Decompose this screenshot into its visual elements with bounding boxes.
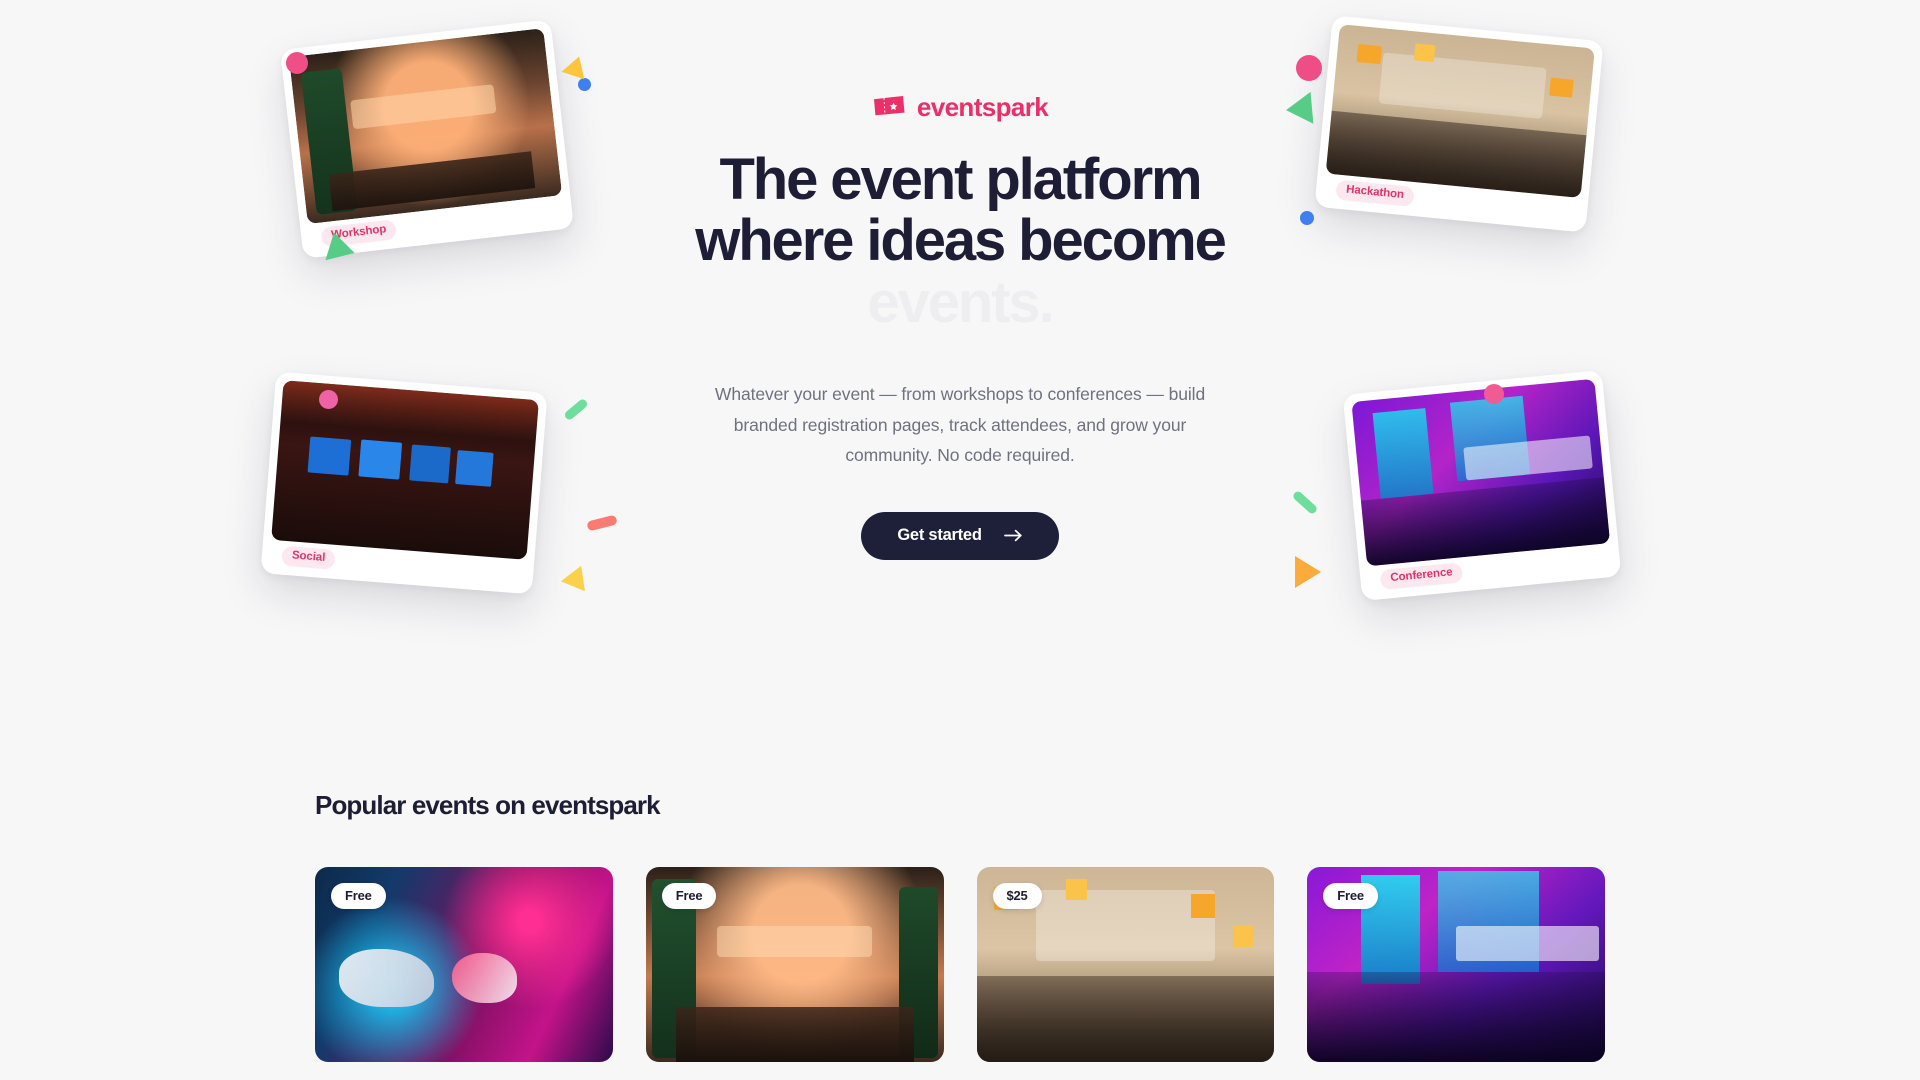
price-badge: Free (662, 883, 717, 909)
price-badge: Free (331, 883, 386, 909)
brand-logo[interactable]: eventspark (600, 92, 1320, 123)
headline-line-1: The event platform (600, 149, 1320, 210)
events-grid: Free SAT, MAR 28 AI hackathon Free THU, … (315, 867, 1605, 1080)
hero-subheading: Whatever your event — from workshops to … (700, 379, 1220, 469)
floating-card-tag: Social (281, 545, 336, 570)
page-title: The event platform where ideas become ev… (600, 149, 1320, 333)
floating-card-conference: Conference (1343, 370, 1622, 601)
event-thumbnail: Free (646, 867, 944, 1062)
floating-card-tag: Conference (1380, 562, 1464, 590)
confetti-dot-pink (286, 52, 308, 74)
price-badge: $25 (993, 883, 1042, 909)
floating-card-photo (1326, 24, 1595, 198)
hero-content: eventspark The event platform where idea… (600, 92, 1320, 560)
get-started-button[interactable]: Get started (861, 512, 1058, 560)
event-card[interactable]: $25 FRI, APR 11 Startup weekend (977, 867, 1275, 1080)
floating-card-workshop: Workshop (280, 19, 574, 258)
event-card[interactable]: Free SAT, MAR 28 AI hackathon (315, 867, 613, 1080)
confetti-dot-pink-lower-right (1484, 384, 1504, 404)
confetti-dot-blue (578, 78, 591, 91)
hero-section: Workshop Hackathon Social Conf (0, 0, 1920, 690)
arrow-right-icon (1004, 529, 1023, 542)
headline-line-3: events. (600, 272, 1320, 333)
floating-card-photo (271, 380, 539, 560)
event-card[interactable]: Free SAT, APR 19 Vibe coding summit (1307, 867, 1605, 1080)
floating-card-social: Social (260, 372, 547, 595)
confetti-bar-green (563, 398, 589, 422)
brand-name: eventspark (917, 92, 1048, 123)
floating-card-hackathon: Hackathon (1314, 15, 1603, 232)
confetti-triangle-yellow (561, 53, 590, 79)
confetti-dot-magenta (319, 390, 338, 409)
floating-card-photo (289, 28, 562, 224)
section-title: Popular events on eventspark (315, 690, 1605, 821)
event-thumbnail: Free (1307, 867, 1605, 1062)
confetti-triangle-gold (561, 561, 593, 591)
floating-card-photo (1351, 379, 1610, 567)
get-started-label: Get started (897, 526, 981, 545)
event-card[interactable]: Free THU, APR 3 Chill workspace lab (646, 867, 944, 1080)
headline-line-2: where ideas become (600, 210, 1320, 271)
confetti-triangle-orange-right (1295, 556, 1321, 588)
popular-events-section: Popular events on eventspark Free SAT, M… (0, 690, 1920, 1080)
floating-card-tag: Hackathon (1335, 179, 1415, 207)
confetti-dot-pink-right (1296, 55, 1322, 81)
confetti-triangle-green (319, 229, 354, 261)
ticket-icon (872, 94, 906, 122)
event-thumbnail: $25 (977, 867, 1275, 1062)
event-thumbnail: Free (315, 867, 613, 1062)
price-badge: Free (1323, 883, 1378, 909)
